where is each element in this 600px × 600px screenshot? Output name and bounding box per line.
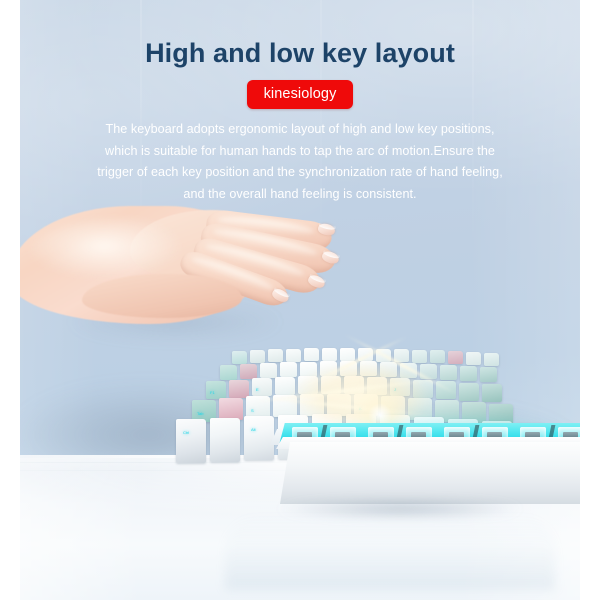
keycap	[304, 348, 319, 361]
keycap	[412, 350, 427, 363]
keycap	[440, 365, 457, 380]
keycap	[286, 349, 301, 362]
keycap: F1	[206, 381, 226, 399]
keycap	[322, 348, 337, 361]
keycap	[340, 361, 357, 376]
keyboard-chassis	[280, 442, 580, 504]
keycap	[250, 350, 265, 363]
keycap	[210, 418, 240, 462]
keycap: J	[390, 378, 410, 396]
description-line: and the overall hand feeling is consiste…	[34, 184, 566, 206]
hovering-hand	[20, 196, 410, 346]
keycap	[400, 363, 417, 378]
keycap	[376, 349, 391, 362]
keycap	[260, 363, 277, 378]
keycap	[484, 353, 499, 366]
mechanical-keyboard: F1 E J Tab S	[80, 345, 580, 520]
status-badge: kinesiology	[247, 80, 354, 109]
keycap	[380, 362, 397, 377]
keycap	[340, 348, 355, 361]
keycap	[320, 361, 337, 376]
keycap: E	[252, 378, 272, 396]
keycap	[360, 361, 377, 376]
description-line: The keyboard adopts ergonomic layout of …	[34, 119, 566, 141]
keycap	[420, 364, 437, 379]
keycap	[358, 348, 373, 361]
description-line: trigger of each key position and the syn…	[34, 162, 566, 184]
product-marketing-image: F1 E J Tab S	[0, 0, 600, 600]
keycap	[298, 376, 318, 394]
photo-stage: F1 E J Tab S	[20, 0, 580, 600]
badge-container: kinesiology	[20, 80, 580, 109]
keyboard-reflection	[225, 512, 555, 590]
keycap	[240, 364, 257, 379]
description-line: which is suitable for human hands to tap…	[34, 141, 566, 163]
keycap	[275, 377, 295, 395]
keycap	[219, 398, 243, 420]
keycap	[280, 362, 297, 377]
keycap	[300, 362, 317, 377]
thumb	[82, 274, 242, 318]
keycap	[448, 351, 463, 364]
keycap	[480, 367, 497, 382]
keycap: S	[246, 396, 270, 418]
keycap: Ctrl	[176, 419, 206, 463]
keycap	[220, 365, 237, 380]
keycap	[394, 349, 409, 362]
keycap	[436, 381, 456, 399]
keycap	[482, 384, 502, 402]
keycap	[430, 350, 445, 363]
page-title: High and low key layout	[20, 38, 580, 69]
keycap	[344, 376, 364, 394]
keycap	[413, 380, 433, 398]
keycap	[232, 351, 247, 364]
keycap	[321, 376, 341, 394]
keycap	[367, 377, 387, 395]
keycap	[459, 383, 479, 401]
keycap	[466, 352, 481, 365]
keycap	[268, 349, 283, 362]
description-paragraph: The keyboard adopts ergonomic layout of …	[34, 119, 566, 205]
keycap	[460, 366, 477, 381]
